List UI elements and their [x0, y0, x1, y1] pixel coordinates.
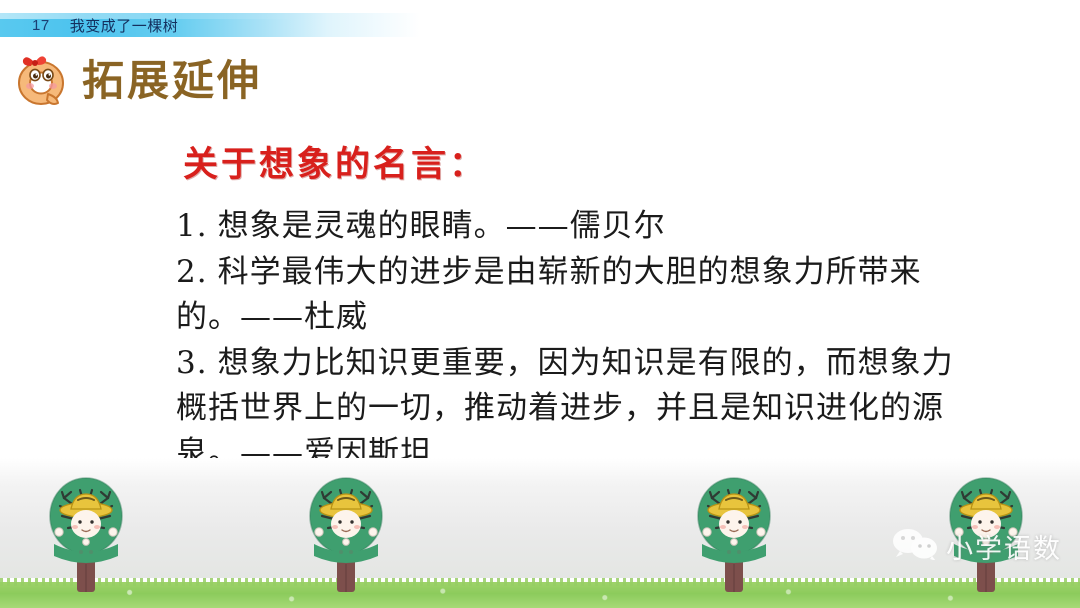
tree-boy-with-straw-hat-icon [40, 472, 132, 596]
quote-text-2: 科学最伟大的进步是由崭新的大胆的想象力所带来的。——杜威 [176, 254, 922, 335]
chapter-bar: 17 我变成了一棵树 [0, 13, 420, 37]
grass-strip [0, 582, 1080, 608]
quote-number-2: 2. [176, 254, 208, 290]
chapter-number: 17 [32, 17, 50, 34]
orange-q-mascot-icon [14, 50, 70, 108]
quote-item-1: 1.想象是灵魂的眼睛。——儒贝尔 [176, 204, 966, 249]
wechat-icon [892, 528, 938, 565]
chapter-title: 我变成了一棵树 [70, 15, 179, 36]
watermark: 小学语数 [892, 527, 1062, 566]
tree-boy-with-straw-hat-icon [300, 472, 392, 596]
section-title-text: 拓展延伸 [82, 60, 262, 102]
quote-number-1: 1. [176, 208, 208, 244]
quote-text-3: 想象力比知识更重要，因为知识是有限的，而想象力概括世界上的一切，推动着进步，并且… [176, 345, 954, 471]
quote-number-3: 3. [176, 345, 208, 381]
watermark-text: 小学语数 [946, 527, 1062, 566]
quote-item-3: 3.想象力比知识更重要，因为知识是有限的，而想象力概括世界上的一切，推动着进步，… [176, 341, 966, 476]
slide-canvas: 17 我变成了一棵树 [0, 0, 1080, 608]
tree-boy-with-straw-hat-icon [688, 472, 780, 596]
section-heading: 拓展延伸 [14, 50, 262, 108]
quote-list: 1.想象是灵魂的眼睛。——儒贝尔 2.科学最伟大的进步是由崭新的大胆的想象力所带… [176, 204, 966, 477]
quote-list-heading: 关于想象的名言： [183, 136, 487, 187]
quote-item-2: 2.科学最伟大的进步是由崭新的大胆的想象力所带来的。——杜威 [176, 250, 966, 340]
quote-text-1: 想象是灵魂的眼睛。——儒贝尔 [218, 208, 666, 244]
